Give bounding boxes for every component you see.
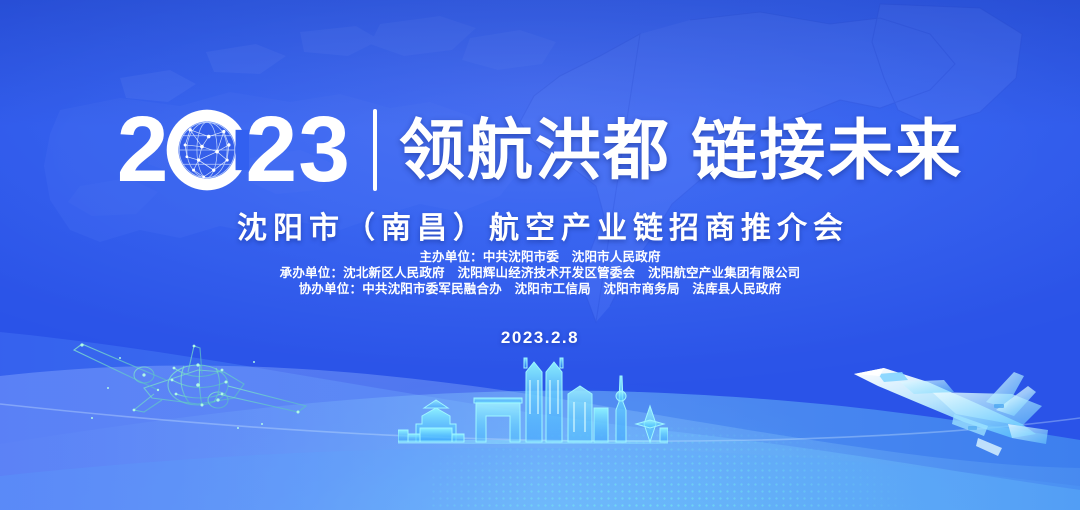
organizer-line-organizer: 承办单位：沈北新区人民政府 沈阳辉山经济技术开发区管委会 沈阳航空产业集团有限公… (0, 265, 1080, 281)
headline: 领航洪都 链接未来 (399, 117, 963, 183)
network-globe-icon (165, 103, 249, 196)
title-divider (373, 109, 377, 191)
title-row: 2 (0, 103, 1080, 196)
year-logo: 2 (117, 103, 351, 196)
event-banner: 2 (0, 0, 1080, 510)
organizer-list: 主办单位：中共沈阳市委 沈阳市人民政府 承办单位：沈北新区人民政府 沈阳辉山经济… (0, 249, 1080, 297)
event-date: 2023.2.8 (0, 328, 1080, 348)
subtitle: 沈阳市（南昌）航空产业链招商推介会 (0, 203, 1080, 247)
year-digit-1: 2 (117, 103, 170, 196)
year-digit-3: 2 (245, 103, 298, 196)
banner-content: 2 (0, 0, 1080, 510)
year-digit-4: 3 (298, 103, 351, 196)
organizer-line-coorganizer: 协办单位：中共沈阳市委军民融合办 沈阳市工信局 沈阳市商务局 法库县人民政府 (0, 281, 1080, 297)
organizer-line-host: 主办单位：中共沈阳市委 沈阳市人民政府 (0, 249, 1080, 265)
